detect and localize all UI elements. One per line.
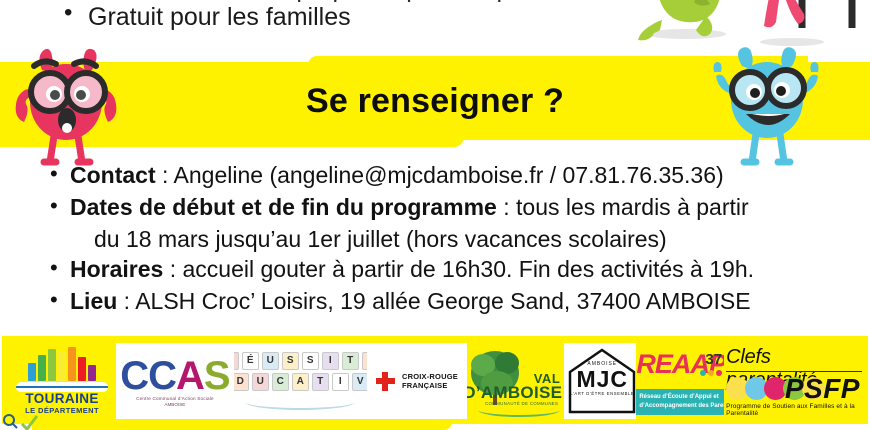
details-list: •Contact : Angeline (angeline@mjcdambois… (44, 160, 854, 318)
logo-croix-rouge: CROIX-ROUGE FRANÇAISE (367, 343, 467, 419)
logo-ccas-letters: CCAS (120, 356, 229, 396)
list-item: •Lieu : ALSH Croc’ Loisirs, 19 allée Geo… (44, 286, 854, 316)
detail-separator: : (497, 194, 516, 220)
logo-croix-line2: FRANÇAISE (402, 381, 458, 390)
detail-label: Contact (70, 162, 156, 188)
logo-reussite-tile: C (272, 373, 289, 391)
logo-clefs-acronym: PSFP (785, 373, 860, 405)
list-item: •Horaires : accueil gouter à partir de 1… (44, 254, 854, 284)
bullet-dot-icon: • (50, 285, 58, 315)
detail-label: Dates de début et de fin du programme (70, 194, 497, 220)
detail-separator: : (163, 256, 182, 282)
poster-slide: Goûter et activités proposés par des pro… (0, 0, 870, 430)
detail-label: Horaires (70, 256, 163, 282)
logo-reaap-number: 37 (705, 351, 722, 368)
detail-value: tous les mardis à partir (516, 194, 749, 220)
logo-reussite-tile: S (282, 352, 299, 370)
logo-reussite-tile: R (234, 352, 239, 370)
logo-reussite-smile-icon (245, 394, 355, 410)
detail-value: accueil gouter à partir de 16h30. Fin de… (183, 256, 755, 282)
logo-reussite-tile: V (352, 373, 367, 391)
bullet-dot-icon: • (50, 191, 58, 221)
logo-reussite-tile: I (332, 373, 349, 391)
bullet-dot-icon: • (64, 1, 72, 25)
logo-reussite-tile: S (302, 352, 319, 370)
logo-val-line2: D’AMBOISE (467, 383, 562, 403)
logo-val-line3: COMMUNAUTÉ DE COMMUNES (485, 401, 558, 406)
logo-reussite-tile: U (262, 352, 279, 370)
logo-mjc-main: MJC (564, 367, 636, 391)
logo-reussite-word1: R É U S S I T E (234, 352, 367, 370)
top-bullet-group: Goûter et activités proposés par des pro… (0, 0, 660, 58)
logo-ccas-letter: A (176, 354, 204, 398)
logo-reussite-tile: U (252, 373, 269, 391)
logo-ccas-letter: C (148, 354, 176, 398)
logo-reaap-dots-icon (700, 370, 722, 376)
logo-reaap-tagline1: Réseau d’Écoute d’Appui et (639, 393, 724, 402)
top-bullet-gratuit-text: Gratuit pour les familles (88, 3, 351, 31)
top-bullet-clipped: Goûter et activités proposés par des pro… (88, 0, 658, 2)
red-cross-icon (376, 372, 395, 391)
logo-touraine: TOURAINE LE DÉPARTEMENT (8, 343, 116, 419)
logo-reussite-tile: T (342, 352, 359, 370)
logo-ccas-subtitle2: AMBOISE (120, 402, 229, 407)
detail-value: ALSH Croc’ Loisirs, 19 allée George Sand… (135, 288, 750, 314)
logo-clefs-parentalite: Clefs parentalité PSFP Programme de Sout… (724, 343, 862, 419)
logo-touraine-line1: TOURAINE (16, 392, 108, 406)
logo-croix-line1: CROIX-ROUGE (402, 372, 458, 381)
decorative-artifact (2, 412, 42, 430)
detail-separator: : (117, 288, 135, 314)
logo-mjc-bottom: L’ART D’ÊTRE ENSEMBLE (564, 391, 636, 396)
logo-reussite-tile: D (234, 373, 249, 391)
logo-mjc: AMBOISE MJC L’ART D’ÊTRE ENSEMBLE (564, 343, 636, 419)
bullet-dot-icon: • (50, 159, 58, 189)
logo-reussite-tile: É (242, 352, 259, 370)
partner-logo-row: TOURAINE LE DÉPARTEMENT CCAS Centre Comm… (2, 340, 868, 422)
logo-reussite-tile: I (322, 352, 339, 370)
logo-ccas-letter: C (120, 354, 148, 398)
bullet-dot-icon: • (50, 253, 58, 283)
logo-ccas-letter: S (204, 354, 230, 398)
detail-separator: : (156, 162, 174, 188)
logo-val-damboise: VAL D’AMBOISE COMMUNAUTÉ DE COMMUNES (467, 343, 564, 419)
logo-reussite-tile: A (292, 373, 309, 391)
logo-clefs-subtitle: Programme de Soutien aux Familles et à l… (726, 403, 862, 417)
logo-reaap: REAAP 37 Réseau d’Écoute d’Appui et d’Ac… (636, 343, 724, 419)
page-title: Se renseigner ? (0, 66, 870, 136)
detail-label: Lieu (70, 288, 117, 314)
logo-reaap-tagline2: d’Accompagnement des Parents (639, 402, 724, 411)
list-item: •Dates de début et de fin du programme :… (44, 192, 854, 222)
logo-reussite-tile: T (312, 373, 329, 391)
detail-value: Angeline (angeline@mjcdamboise.fr / 07.8… (174, 162, 724, 188)
logo-reaap-tagline: Réseau d’Écoute d’Appui et d’Accompagnem… (636, 389, 724, 415)
logo-ccas-subtitle: Centre Communal d’Action Sociale (120, 396, 229, 402)
touraine-bars-icon (16, 347, 108, 381)
logo-ccas: CCAS Centre Communal d’Action Sociale AM… (116, 343, 234, 419)
logo-reussite-educative: R É U S S I T E É D U C A T I V (234, 343, 367, 419)
detail-continuation: du 18 mars jusqu’au 1er juillet (hors va… (44, 224, 854, 254)
list-item: •Contact : Angeline (angeline@mjcdambois… (44, 160, 854, 190)
top-bullet-gratuit: •Gratuit pour les familles (88, 3, 351, 32)
logo-reussite-word2: É D U C A T I V E (234, 373, 367, 391)
logo-clefs-rule (726, 371, 862, 372)
